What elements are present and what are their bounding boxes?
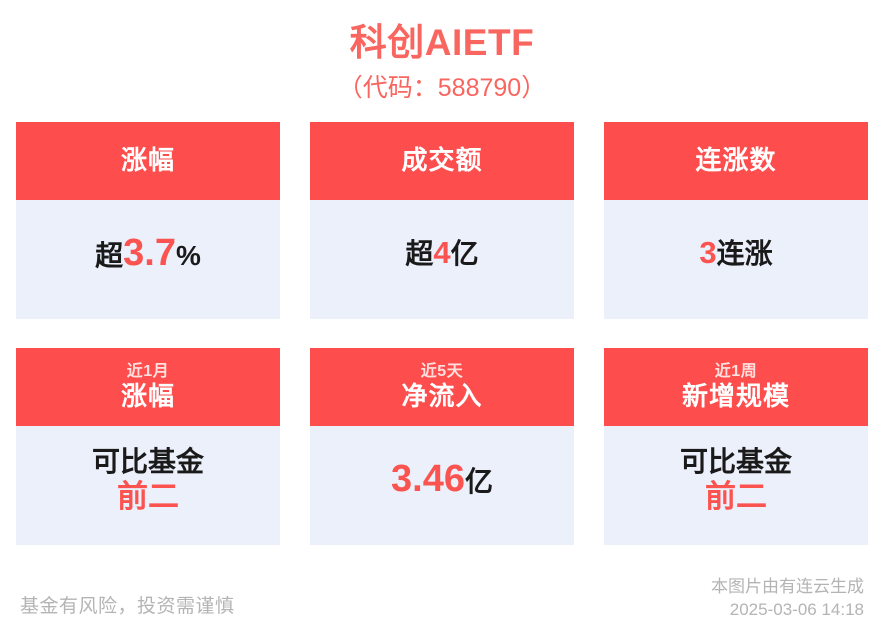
page-title: 科创AIETF: [0, 22, 884, 65]
card-value-line: 可比基金: [92, 445, 204, 478]
card-header-title: 成交额: [401, 145, 482, 176]
infographic-page: 科创AIETF （代码：588790） 涨幅超3.7%成交额超4亿连涨数3连涨近…: [0, 0, 884, 632]
card-header-period: 近1周: [715, 363, 757, 381]
card-value-part: %: [176, 240, 201, 271]
card-value-part: 3.7: [123, 232, 176, 274]
card-value-part: 可比基金: [680, 446, 792, 477]
title-block: 科创AIETF （代码：588790）: [0, 0, 884, 103]
card-value-part: 超: [405, 238, 433, 269]
card-body-one-month-gain: 可比基金前二: [16, 426, 280, 545]
card-header-one-month-gain: 近1月涨幅: [16, 348, 280, 426]
card-value-line: 前二: [705, 479, 767, 516]
card-value-part: 3.46: [391, 458, 465, 500]
card-body-turnover: 超4亿: [310, 200, 574, 319]
metric-card-one-week-new-scale: 近1周新增规模可比基金前二: [604, 348, 868, 545]
card-value-part: 3: [699, 235, 716, 270]
card-header-title: 净流入: [401, 381, 482, 412]
card-header-period: 近5天: [421, 363, 463, 381]
card-value-line: 3.46亿: [391, 457, 493, 502]
card-value-part: 前二: [117, 479, 179, 514]
card-body-one-week-new-scale: 可比基金前二: [604, 426, 868, 545]
card-value-line: 超3.7%: [95, 231, 201, 276]
card-value-part: 超: [95, 240, 123, 271]
card-header-title: 涨幅: [121, 381, 175, 412]
card-header-turnover: 成交额: [310, 122, 574, 200]
metric-card-turnover: 成交额超4亿: [310, 122, 574, 319]
card-value-line: 超4亿: [405, 235, 478, 272]
footer-credit: 本图片由有连云生成 2025-03-06 14:18: [711, 576, 864, 622]
metric-card-consecutive-gains: 连涨数3连涨: [604, 122, 868, 319]
card-value-part: 可比基金: [92, 446, 204, 477]
card-value-line: 3连涨: [699, 235, 772, 272]
card-header-five-day-net-inflow: 近5天净流入: [310, 348, 574, 426]
card-header-title: 连涨数: [695, 145, 776, 176]
card-header-gain: 涨幅: [16, 122, 280, 200]
generator-credit: 本图片由有连云生成: [711, 576, 864, 599]
card-value-line: 前二: [117, 479, 179, 516]
metric-card-gain: 涨幅超3.7%: [16, 122, 280, 319]
card-value-part: 亿: [451, 238, 479, 269]
card-value-part: 连涨: [717, 238, 773, 269]
card-header-title: 涨幅: [121, 145, 175, 176]
metric-card-one-month-gain: 近1月涨幅可比基金前二: [16, 348, 280, 545]
card-value-line: 可比基金: [680, 445, 792, 478]
card-value-part: 前二: [705, 479, 767, 514]
metric-card-five-day-net-inflow: 近5天净流入3.46亿: [310, 348, 574, 545]
generated-timestamp: 2025-03-06 14:18: [711, 599, 864, 622]
card-body-gain: 超3.7%: [16, 200, 280, 319]
footer: 基金有风险，投资需谨慎 本图片由有连云生成 2025-03-06 14:18: [0, 572, 884, 632]
card-body-five-day-net-inflow: 3.46亿: [310, 426, 574, 545]
card-value-part: 4: [433, 235, 450, 270]
card-header-title: 新增规模: [682, 381, 790, 412]
risk-disclaimer: 基金有风险，投资需谨慎: [20, 595, 235, 622]
card-value-part: 亿: [465, 466, 493, 497]
card-header-period: 近1月: [127, 363, 169, 381]
metric-card-grid: 涨幅超3.7%成交额超4亿连涨数3连涨近1月涨幅可比基金前二近5天净流入3.46…: [0, 122, 884, 545]
fund-code-label: （代码：588790）: [0, 73, 884, 103]
card-header-consecutive-gains: 连涨数: [604, 122, 868, 200]
card-header-one-week-new-scale: 近1周新增规模: [604, 348, 868, 426]
card-body-consecutive-gains: 3连涨: [604, 200, 868, 319]
